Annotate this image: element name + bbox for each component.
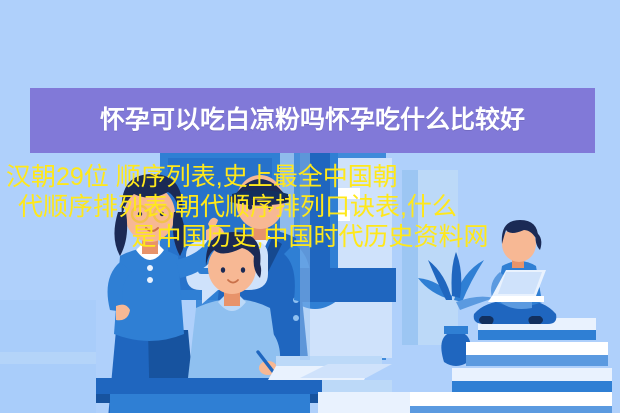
caption-line-3: 是中国历史,中国时代历史资料网 — [0, 222, 620, 252]
thumbnail-image: 怀孕可以吃白凉粉吗怀孕吃什么比较好 汉朝29位 顺序列表,史上最全中国朝 代顺序… — [0, 0, 620, 413]
wall-frame — [300, 268, 396, 302]
left-background-shapes — [0, 300, 96, 413]
caption-line-1: 汉朝29位 顺序列表,史上最全中国朝 — [0, 162, 620, 192]
title-banner: 怀孕可以吃白凉粉吗怀孕吃什么比较好 — [30, 88, 595, 153]
caption-overlay: 汉朝29位 顺序列表,史上最全中国朝 代顺序排列表,朝代顺序排列口诀表,什么 是… — [0, 162, 620, 252]
banner-title-text: 怀孕可以吃白凉粉吗怀孕吃什么比较好 — [100, 108, 525, 133]
caption-line-2: 代顺序排列表,朝代顺序排列口诀表,什么 — [0, 192, 620, 222]
